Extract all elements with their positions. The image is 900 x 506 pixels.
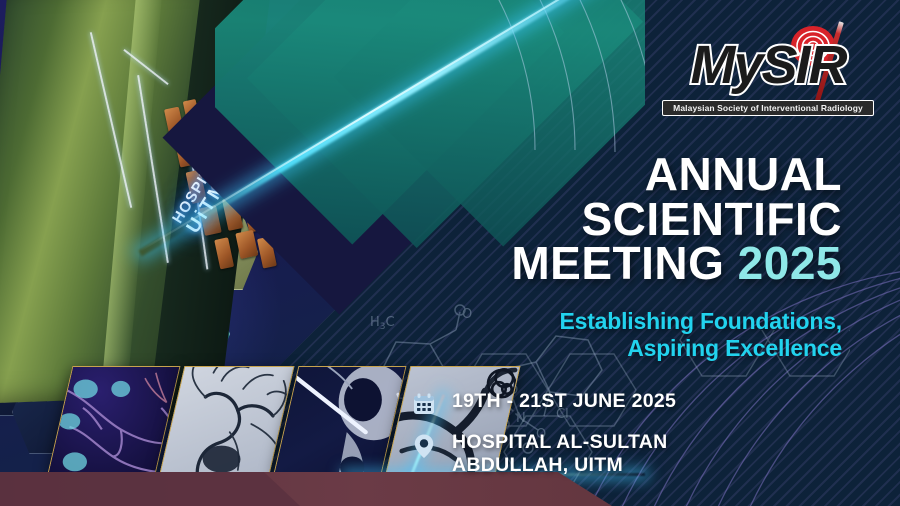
venue-line-2: ABDULLAH, UITM [452,454,623,476]
headline-line-2: SCIENTIFIC [412,197,842,242]
headline-line-1: ANNUAL [412,152,842,197]
headline-year: 2025 [738,237,842,289]
event-poster: HOSPITAL UiTM [0,0,900,506]
event-date: 19TH - 21ST JUNE 2025 [452,390,676,413]
event-venue: HOSPITAL AL-SULTAN ABDULLAH, UITM [452,431,668,477]
tagline-line-1: Establishing Foundations, [412,308,842,335]
location-pin-icon [412,431,438,464]
bottom-color-band-accent [0,472,300,506]
logo-subtitle: Malaysian Society of Interventional Radi… [662,100,874,116]
headline-line-3: MEETING 2025 [412,241,842,286]
event-date-row: 19TH - 21ST JUNE 2025 [412,390,842,421]
page-title: ANNUAL SCIENTIFIC MEETING 2025 [412,152,842,286]
tagline-line-2: Aspiring Excellence [412,335,842,362]
mysir-logo[interactable]: MySIR Malaysian Society of Interventiona… [662,24,874,118]
venue-line-1: HOSPITAL AL-SULTAN [452,431,668,453]
calendar-icon [412,390,438,421]
event-details: 19TH - 21ST JUNE 2025 HOSPITAL AL-SULTAN… [412,390,842,487]
event-tagline: Establishing Foundations, Aspiring Excel… [412,308,842,362]
headline-meeting: MEETING [511,237,724,289]
logo-letters: MySIR [662,38,874,92]
molecule-label-methyl: H3C [370,315,395,332]
event-venue-row: HOSPITAL AL-SULTAN ABDULLAH, UITM [412,431,842,477]
